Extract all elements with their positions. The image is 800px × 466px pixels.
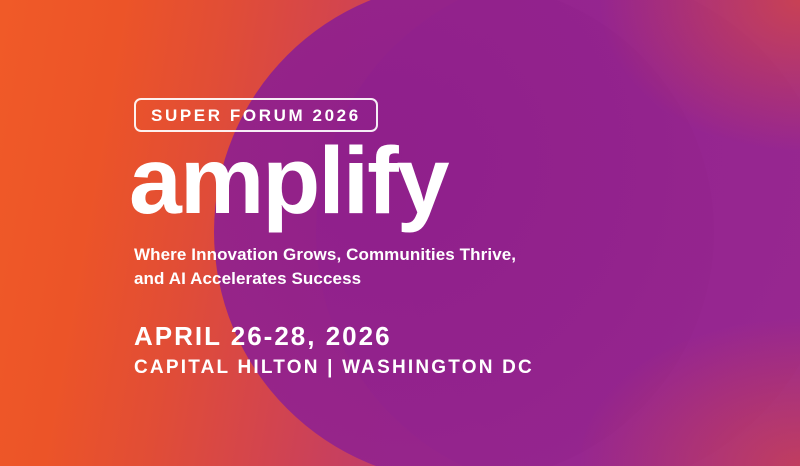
event-banner: SUPER FORUM 2026 amplify Where Innovatio… — [0, 0, 800, 466]
event-venue: CAPITAL HILTON | WASHINGTON DC — [134, 358, 564, 378]
event-badge: SUPER FORUM 2026 — [134, 98, 378, 132]
event-tagline: Where Innovation Grows, Communities Thri… — [134, 243, 534, 291]
event-wordmark: amplify — [129, 139, 564, 225]
banner-content: SUPER FORUM 2026 amplify Where Innovatio… — [134, 98, 564, 378]
event-date: APRIL 26-28, 2026 — [134, 323, 564, 350]
